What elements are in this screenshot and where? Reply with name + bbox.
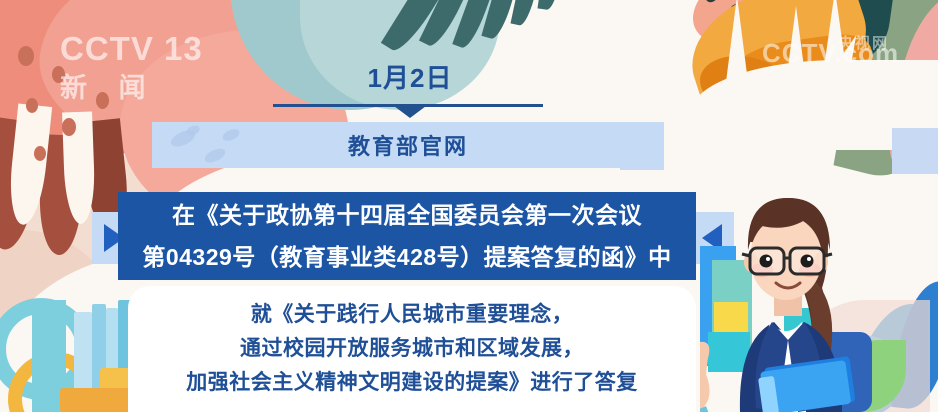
book-2 [92,304,106,412]
speckle-dot [62,118,76,136]
source-label: 教育部官网 [348,129,468,161]
source-band: 教育部官网 [152,122,664,168]
pink-leaf [888,0,938,175]
speckle-dot [18,46,34,66]
speckle-dot [26,98,38,113]
broadcast-graphic: CCTV 13 新 闻 CCTV.com 央视网 1月2日 教育部官网 在《关于… [0,0,938,412]
date-text: 1月2日 [368,63,453,93]
accent-square-right [892,128,938,174]
leaf-spot [721,20,734,31]
teal-ring [0,298,92,400]
petal-dark-2 [38,134,84,255]
date-header: 1月2日 [270,58,550,95]
frond-leaf [511,0,544,27]
frond-leaf [481,0,522,41]
book-3 [106,308,118,412]
leaf-spot [705,0,718,4]
frond-stem [381,0,461,57]
teal-swoosh [32,300,66,412]
orange-ring [8,352,102,412]
leaf-spot [751,0,765,8]
petal-white-1 [6,104,52,227]
white-wedge-right [690,60,938,150]
body-box: 就《关于践行人民城市重要理念， 通过校园开放服务城市和区域发展， 加强社会主义精… [128,286,696,412]
body-line: 通过校园开放服务城市和区域发展， [240,332,584,366]
petal-dark-1 [0,117,45,252]
white-spike [726,0,748,82]
headline-line: 在《关于政协第十四届全国委员会第一次会议 [172,194,642,236]
cctv-news-label: 新 闻 [60,66,158,105]
petal-white-2 [62,112,96,225]
cctv-cn-watermark: 央视网 [838,32,889,53]
band-speckle [203,146,228,165]
frond-leaf [452,0,500,51]
speckle-dot [34,146,46,161]
leaf-spot [729,2,744,15]
caret-down-icon [394,106,426,118]
frond-leaf [537,0,564,11]
frond-leaf [419,0,479,50]
presenter-illustration [700,182,938,412]
green-leaf [823,0,938,192]
book-1 [74,312,92,412]
headline-line: 第04329号（教育事业类428号）提案答复的函》中 [142,236,671,278]
body-line: 就《关于践行人民城市重要理念， [251,298,574,332]
body-line: 加强社会主义精神文明建设的提案》进行了答复 [186,366,638,400]
band-speckle [221,127,242,144]
cctv13-logo: CCTV 13 [60,30,203,68]
headline-box: 在《关于政协第十四届全国委员会第一次会议 第04329号（教育事业类428号）提… [118,192,696,280]
